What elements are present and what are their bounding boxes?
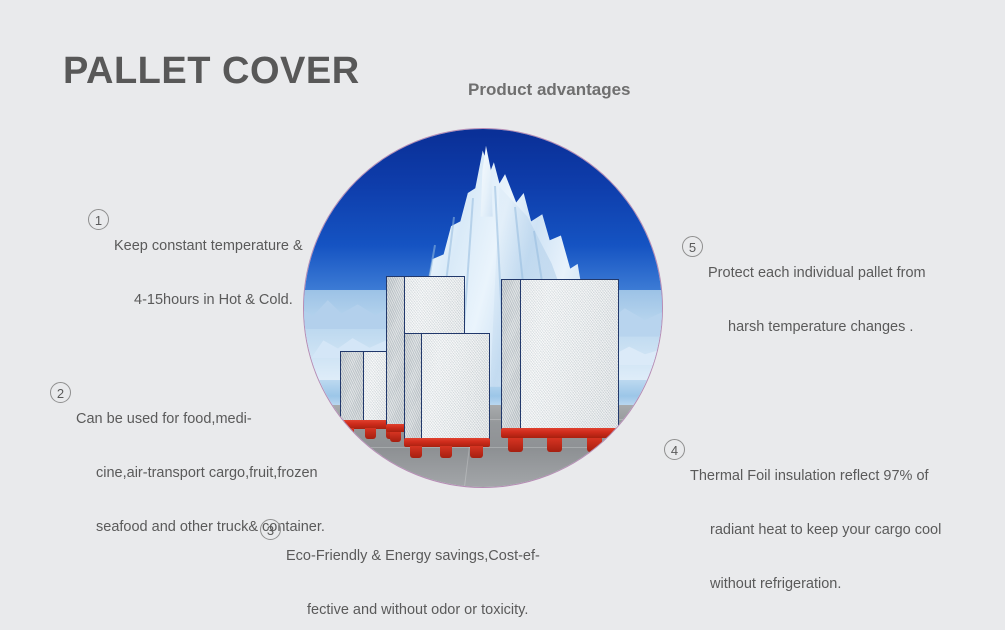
advantage-line: Keep constant temperature & [114, 233, 303, 260]
advantage-line: Eco-Friendly & Energy savings,Cost-ef- [286, 543, 540, 570]
red-pallet-large [501, 428, 623, 439]
pallet-cover-small-side [340, 351, 365, 423]
advantage-text-5: Protect each individual pallet from hars… [708, 233, 926, 368]
advantage-line: harsh temperature changes . [708, 314, 926, 341]
advantage-line: Thermal Foil insulation reflect 97% of [690, 463, 941, 490]
advantage-number-1: 1 [88, 209, 109, 230]
advantage-text-4: Thermal Foil insulation reflect 97% of r… [690, 436, 941, 625]
advantage-line: fective and without odor or toxicity. [286, 597, 540, 624]
advantage-number-2: 2 [50, 382, 71, 403]
pallet-cover-large-front [520, 279, 619, 429]
advantage-number-4: 4 [664, 439, 685, 460]
advantage-item-3: 3 Eco-Friendly & Energy savings,Cost-ef-… [260, 516, 540, 630]
advantage-line: 4-15hours in Hot & Cold. [114, 287, 303, 314]
pallet-foot [508, 438, 523, 452]
advantage-number-3: 3 [260, 519, 281, 540]
pallet-foot [440, 446, 452, 458]
pallet-foot [547, 438, 562, 452]
advantage-item-1: 1 Keep constant temperature & 4-15hours … [88, 206, 303, 341]
pallet-foot [470, 446, 482, 458]
advantage-line: radiant heat to keep your cargo cool [690, 517, 941, 544]
advantage-line: cine,air-transport cargo,fruit,frozen [76, 460, 325, 487]
page-title: PALLET COVER [63, 50, 360, 93]
pallet-foot [410, 446, 422, 458]
floor-seam [304, 447, 662, 448]
pallet-cover-infographic: PALLET COVER Product advantages [0, 0, 1005, 630]
pallet-cover-medium [404, 333, 490, 440]
product-photo-circle [303, 128, 663, 488]
advantage-line: Can be used for food,medi- [76, 406, 325, 433]
iceberg-scene [304, 129, 662, 487]
pallet-foot [390, 432, 401, 443]
advantage-text-1: Keep constant temperature & 4-15hours in… [114, 206, 303, 341]
advantage-item-4: 4 Thermal Foil insulation reflect 97% of… [664, 436, 941, 625]
section-subtitle: Product advantages [468, 80, 631, 100]
pallet-cover-medium-front [421, 333, 491, 440]
pallet-foot [343, 428, 354, 439]
advantage-line: without refrigeration. [690, 571, 941, 598]
advantage-text-3: Eco-Friendly & Energy savings,Cost-ef- f… [286, 516, 540, 630]
advantage-item-5: 5 Protect each individual pallet from ha… [682, 233, 926, 368]
advantage-line: Protect each individual pallet from [708, 260, 926, 287]
advantage-number-5: 5 [682, 236, 703, 257]
pallet-foot [365, 428, 376, 439]
pallet-foot [587, 438, 602, 452]
pallet-cover-large [501, 279, 619, 429]
